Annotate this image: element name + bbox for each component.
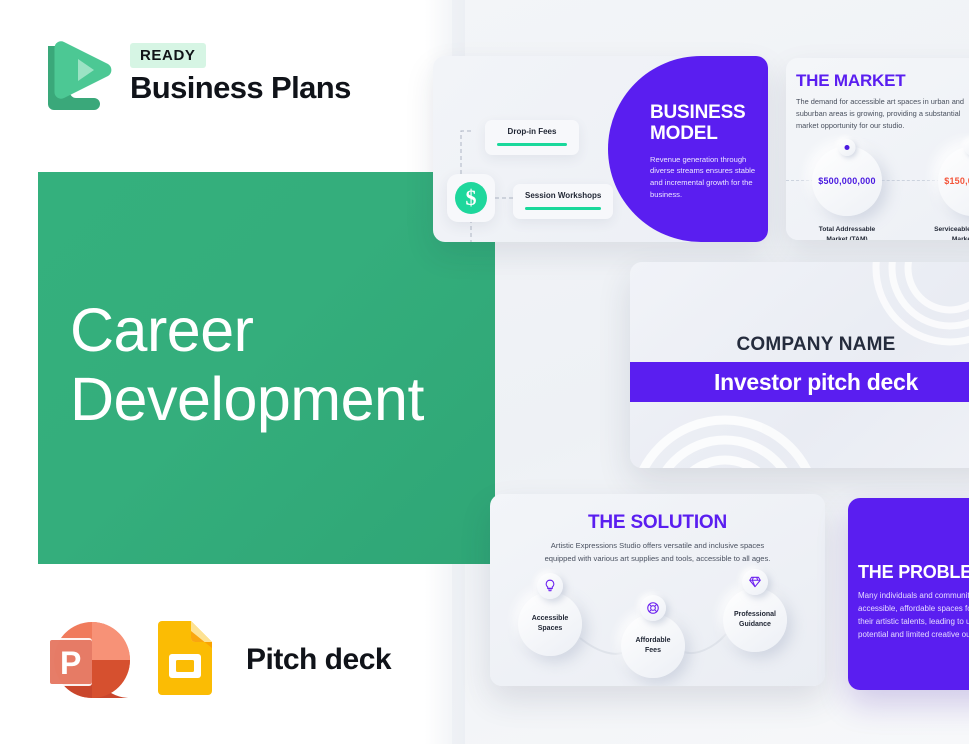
powerpoint-file-icon[interactable]: P (40, 616, 132, 704)
business-model-title: BUSINESS MODEL (650, 102, 762, 145)
business-model-body: Revenue generation through diverse strea… (650, 154, 762, 201)
lifebuoy-icon (640, 595, 666, 621)
revenue-stream-item[interactable]: Session Workshops (513, 184, 613, 219)
play-triangle-logo-icon (38, 34, 114, 114)
slide-the-problem[interactable]: THE PROBLEM Many individuals and communi… (848, 498, 969, 690)
metric-caption: Total Addressable Market (TAM) (819, 225, 875, 240)
lightbulb-icon (537, 573, 563, 599)
metric-dot-indicator (839, 139, 856, 156)
problem-body: Many individuals and communities lack ac… (858, 590, 969, 642)
dollar-circle-icon: $ (447, 174, 495, 222)
solution-title: THE SOLUTION (490, 512, 825, 534)
solution-node[interactable]: Affordable Fees (621, 614, 685, 678)
metric-value: $150,000,000 (944, 176, 969, 186)
pitch-deck-label: Pitch deck (246, 643, 391, 677)
revenue-stream-label: Session Workshops (525, 191, 601, 200)
problem-title: THE PROBLEM (858, 562, 969, 583)
page-title: Career Development (70, 296, 424, 434)
revenue-stream-label: Drop-in Fees (497, 127, 567, 136)
metric-caption: Serviceable Addressable Market (SAM) (934, 225, 969, 240)
google-slides-file-icon[interactable] (154, 621, 216, 699)
market-metric[interactable]: $150,000,000 Serviceable Addressable Mar… (918, 146, 969, 240)
revenue-stream-item[interactable]: Drop-in Fees (485, 120, 579, 155)
solution-node[interactable]: Professional Guidance (723, 588, 787, 652)
slide-business-model[interactable]: $ Drop-in Fees Session Workshops Commiss… (433, 56, 768, 242)
underline-bar (497, 143, 567, 146)
page-root: { "brand": { "badge": "READY", "name": "… (0, 0, 969, 744)
market-metric[interactable]: $500,000,000 Total Addressable Market (T… (792, 146, 902, 240)
solution-node-label: Affordable Fees (636, 636, 671, 656)
solution-node-label: Professional Guidance (734, 610, 776, 630)
market-body: The demand for accessible art spaces in … (796, 96, 969, 133)
business-model-purple-panel: BUSINESS MODEL Revenue generation throug… (608, 56, 768, 242)
solution-body: Artistic Expressions Studio offers versa… (542, 540, 773, 566)
market-title: THE MARKET (796, 71, 905, 91)
metric-value: $500,000,000 (818, 176, 875, 186)
brand-name: Business Plans (130, 72, 351, 105)
slide-company-name[interactable]: COMPANY NAME Investor pitch deck (630, 262, 969, 468)
slide-the-solution[interactable]: THE SOLUTION Artistic Expressions Studio… (490, 494, 825, 686)
ready-badge: READY (130, 43, 206, 68)
metric-dot-indicator (965, 139, 969, 156)
slide-the-market[interactable]: THE MARKET The demand for accessible art… (786, 58, 969, 240)
underline-bar (525, 207, 601, 210)
market-metrics: $500,000,000 Total Addressable Market (T… (792, 146, 969, 240)
investor-pitch-label: Investor pitch deck (714, 369, 918, 396)
format-row: P Pitch deck (40, 616, 391, 704)
diamond-icon (742, 569, 768, 595)
investor-pitch-band: Investor pitch deck (630, 362, 969, 402)
svg-text:P: P (60, 645, 81, 681)
solution-nodes: Accessible Spaces Affordable Fees Profes… (518, 582, 798, 678)
solution-node-label: Accessible Spaces (532, 614, 569, 634)
brand-logo[interactable]: READY Business Plans (38, 34, 351, 114)
company-name-heading: COMPANY NAME (630, 334, 969, 356)
solution-node[interactable]: Accessible Spaces (518, 592, 582, 656)
